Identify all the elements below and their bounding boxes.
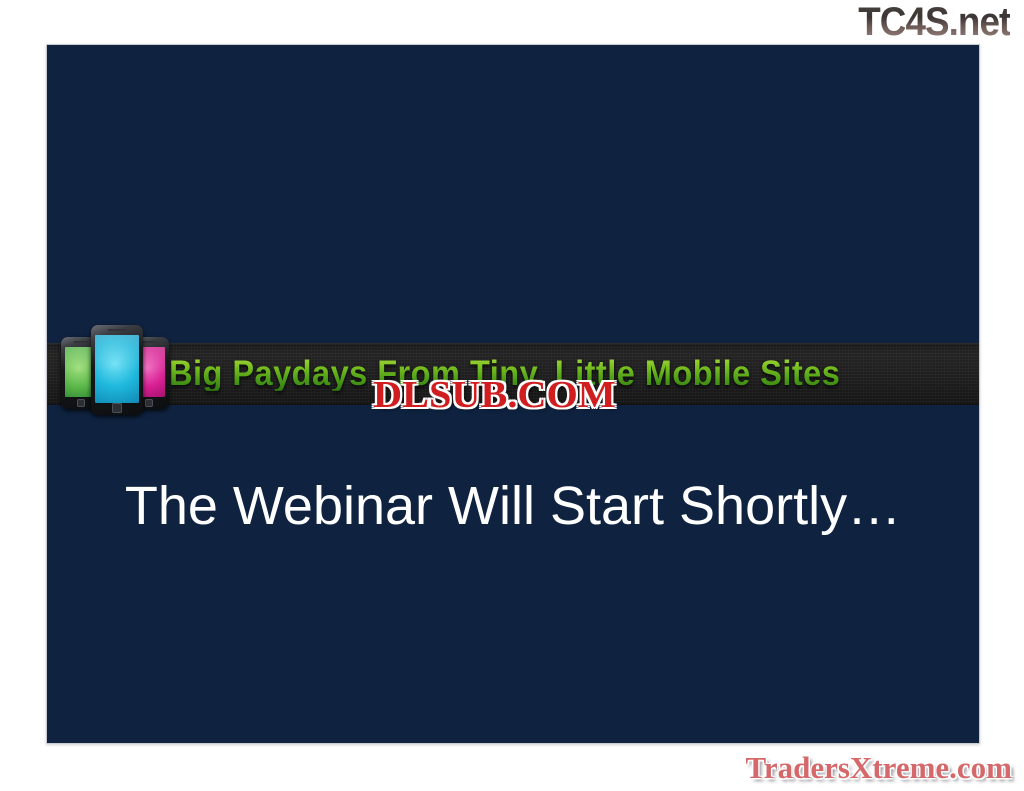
phone-speaker	[142, 341, 156, 343]
dlsub-watermark: DLSUB.COM	[373, 376, 616, 414]
phone-speaker	[74, 341, 88, 343]
brand-logo: TradersXtreme.com	[745, 752, 1012, 783]
phone-speaker	[108, 329, 127, 331]
phone-home-button	[77, 399, 85, 407]
presentation-slide: Big Paydays From Tiny, Little Mobile Sit…	[46, 44, 980, 744]
phone-home-button	[112, 403, 122, 413]
phone-screen	[95, 335, 139, 403]
mobile-phones-graphic	[61, 323, 181, 415]
site-logo: TC4S.net	[858, 2, 1010, 42]
phone-cyan-icon	[91, 325, 143, 415]
slide-headline: The Webinar Will Start Shortly…	[47, 477, 979, 536]
phone-home-button	[145, 399, 153, 407]
